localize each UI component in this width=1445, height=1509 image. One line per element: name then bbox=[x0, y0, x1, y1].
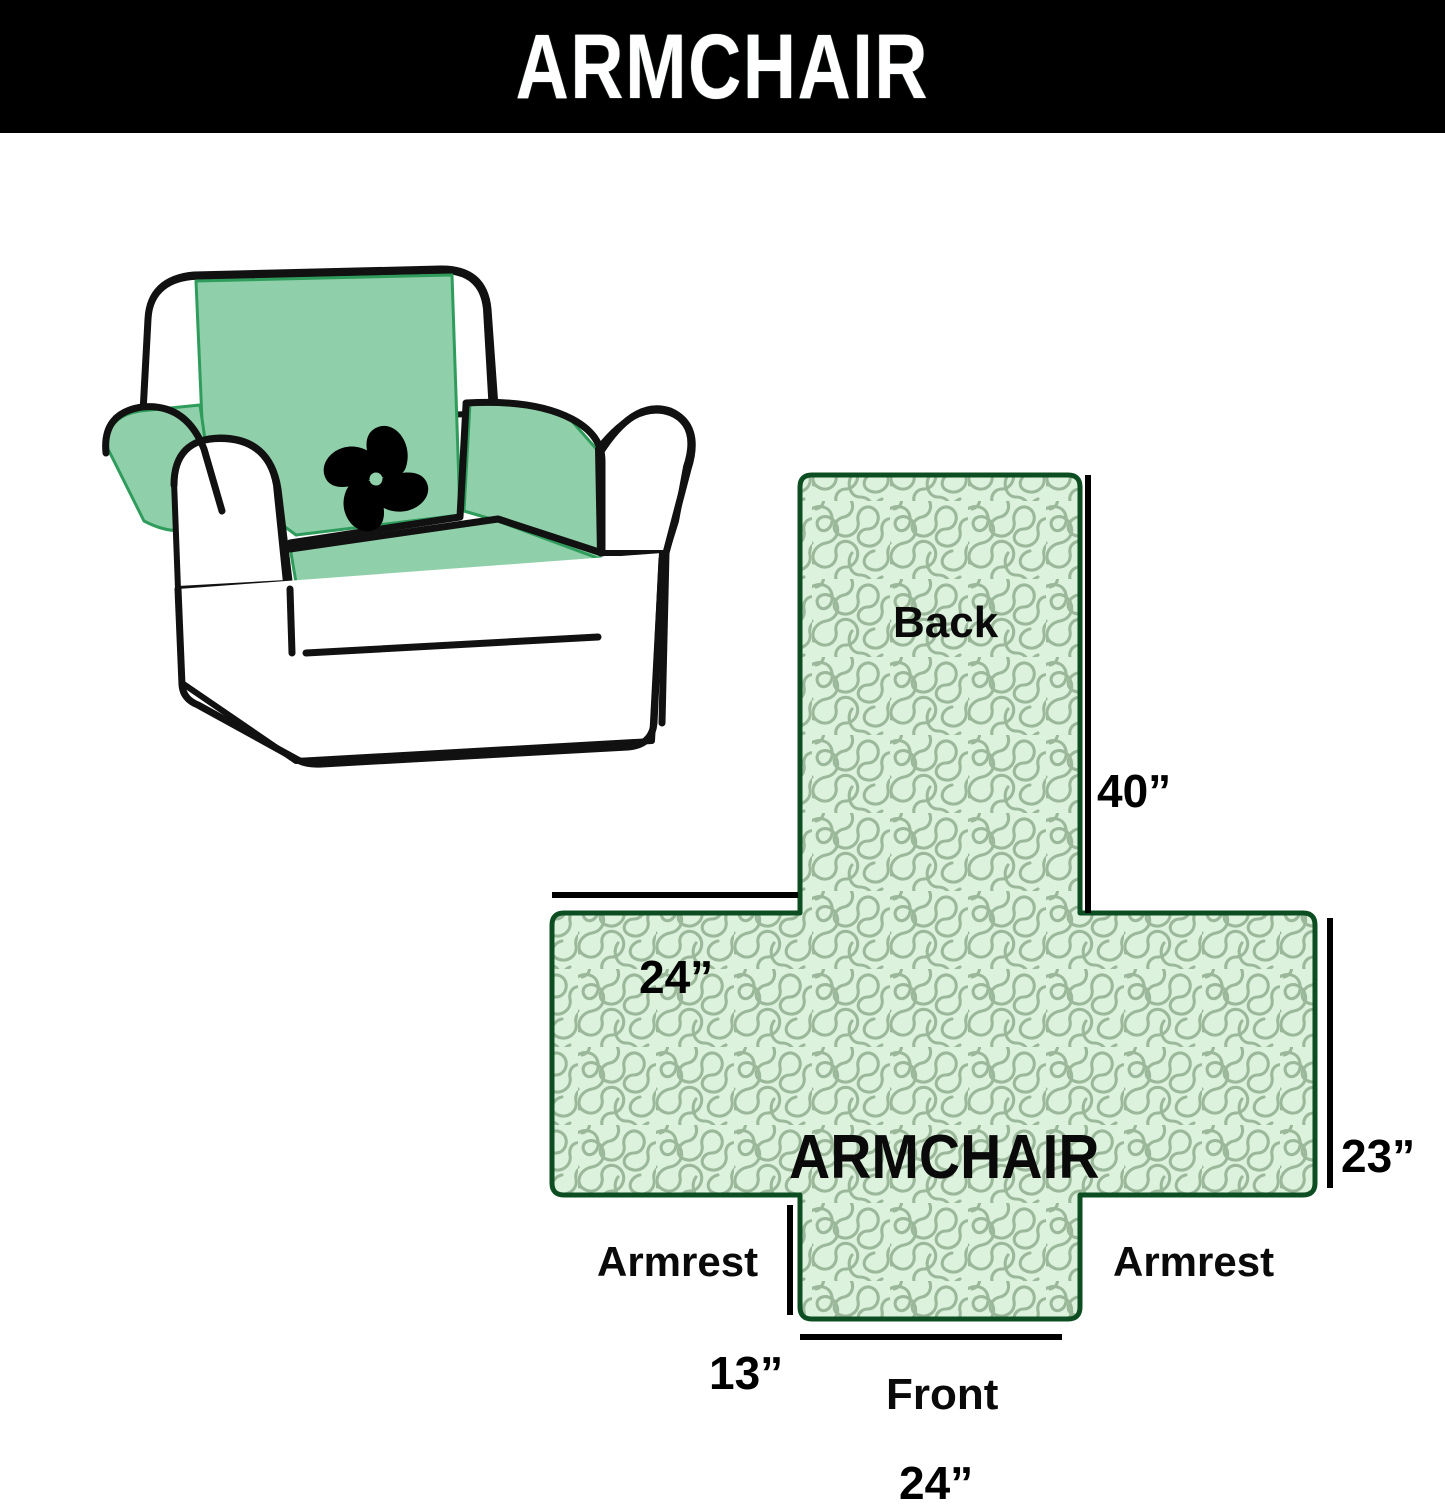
panel-label-armrest-right: Armrest bbox=[1113, 1241, 1274, 1283]
chair-left-inner-line bbox=[290, 589, 292, 653]
panel-label-back: Back bbox=[893, 601, 998, 645]
diagram-canvas: Back ARMCHAIR Armrest Armrest Front 40” … bbox=[0, 133, 1445, 1445]
dimension-label-back-height: 40” bbox=[1097, 768, 1171, 814]
panel-label-armrest-left: Armrest bbox=[597, 1241, 758, 1283]
dimension-label-front-height: 13” bbox=[709, 1350, 783, 1396]
header-banner: ARMCHAIR bbox=[0, 0, 1445, 133]
dimension-label-front-width: 24” bbox=[899, 1460, 973, 1506]
dimension-label-armrest-height: 23” bbox=[1341, 1133, 1415, 1179]
panel-label-center: ARMCHAIR bbox=[789, 1127, 1100, 1189]
dimension-label-armrest-width-left: 24” bbox=[639, 954, 713, 1000]
page-title: ARMCHAIR bbox=[516, 21, 929, 113]
panel-label-front: Front bbox=[886, 1373, 998, 1417]
